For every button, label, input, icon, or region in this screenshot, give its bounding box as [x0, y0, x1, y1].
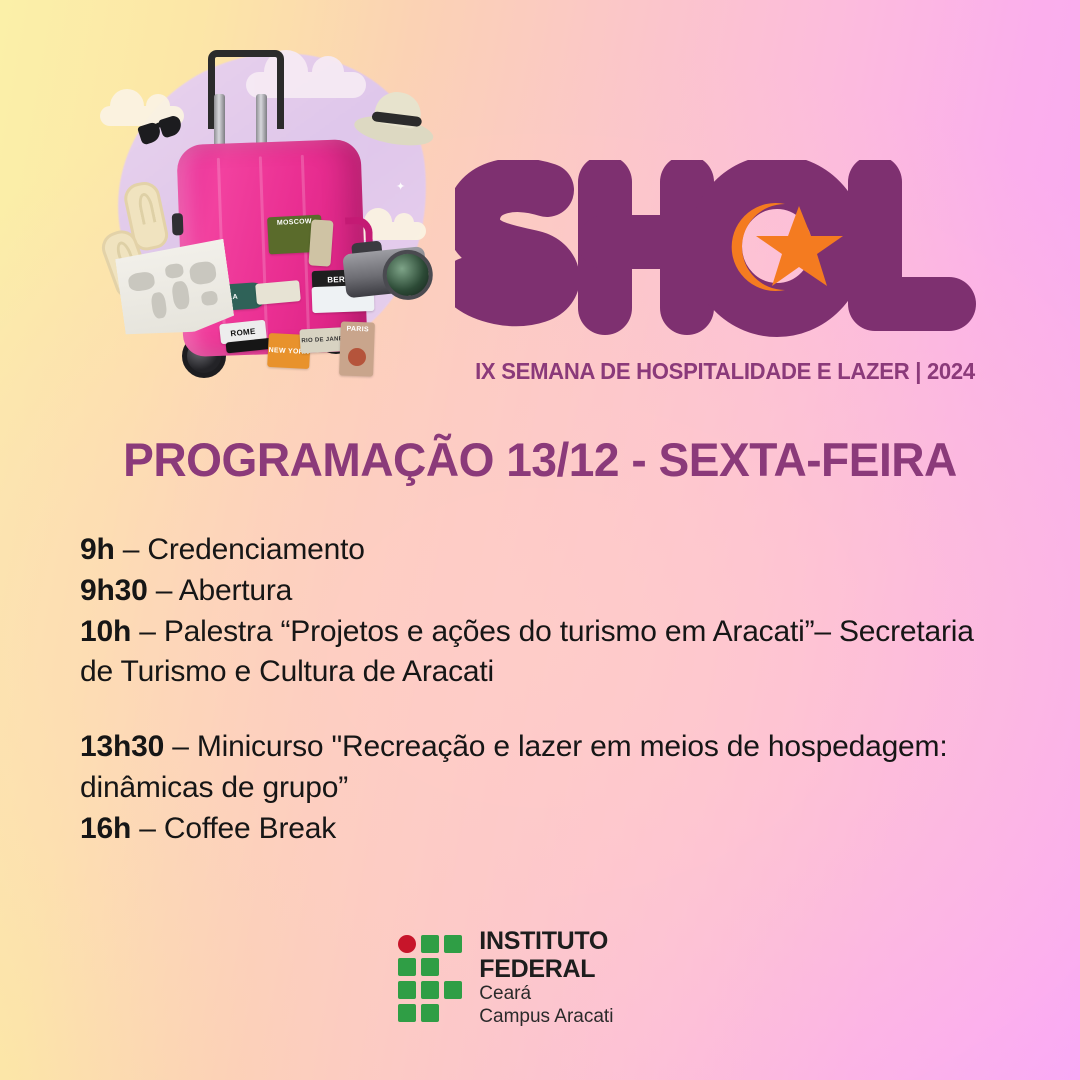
shol-logo: IX SEMANA DE HOSPITALIDADE E LAZER | 202…: [455, 160, 995, 400]
camera-icon: [341, 236, 433, 303]
schedule-dash: –: [131, 615, 164, 648]
page-title: PROGRAMAÇÃO 13/12 - SEXTA-FEIRA: [11, 432, 1069, 487]
schedule-spacer: [80, 693, 1000, 727]
schedule-time: 9h30: [80, 574, 148, 607]
schedule-activity: Coffee Break: [164, 812, 336, 845]
poster-canvas: ✦ ✦ ✦ MOSCOW BERLIN LA ROME NEW YORK RIO…: [0, 0, 1080, 1080]
sticker-stamp: [348, 348, 366, 366]
schedule-time: 13h30: [80, 730, 164, 763]
schedule-dash: –: [164, 730, 197, 763]
if-grid-icon: [398, 935, 463, 1021]
schedule-activity: Minicurso "Recreação e lazer em meios de…: [80, 730, 947, 804]
schedule-activity: Credenciamento: [147, 533, 364, 566]
schedule-dash: –: [131, 812, 164, 845]
schedule-item: 10h – Palestra “Projetos e ações do turi…: [80, 612, 1000, 694]
sparkle-icon: ✦: [396, 182, 405, 193]
schedule-dash: –: [115, 533, 148, 566]
instituto-federal-logo: INSTITUTO FEDERAL Ceará Campus Aracati: [398, 928, 728, 1028]
schedule-list: 9h – Credenciamento 9h30 – Abertura 10h …: [80, 530, 1000, 850]
suitcase-travel-illustration: ✦ ✦ ✦ MOSCOW BERLIN LA ROME NEW YORK RIO…: [96, 34, 446, 384]
schedule-time: 9h: [80, 533, 115, 566]
schedule-item: 13h30 – Minicurso "Recreação e lazer em …: [80, 727, 1000, 809]
schedule-dash: –: [148, 574, 179, 607]
schedule-time: 10h: [80, 615, 131, 648]
if-campus: Campus Aracati: [479, 1006, 728, 1028]
schedule-activity: Abertura: [179, 574, 292, 607]
sticker-luggage-tag: [308, 219, 333, 266]
schedule-time: 16h: [80, 812, 131, 845]
shol-wordmark-icon: [455, 160, 995, 360]
schedule-item: 9h – Credenciamento: [80, 530, 1000, 571]
schedule-item: 9h30 – Abertura: [80, 571, 1000, 612]
if-text-block: INSTITUTO FEDERAL Ceará Campus Aracati: [479, 928, 728, 1028]
if-state: Ceará: [479, 983, 728, 1005]
if-name: INSTITUTO FEDERAL: [479, 928, 728, 983]
event-subtitle: IX SEMANA DE HOSPITALIDADE E LAZER | 202…: [466, 358, 984, 385]
schedule-activity: Palestra “Projetos e ações do turismo em…: [80, 615, 974, 689]
sticker-tag: [255, 280, 301, 305]
schedule-item: 16h – Coffee Break: [80, 809, 1000, 850]
